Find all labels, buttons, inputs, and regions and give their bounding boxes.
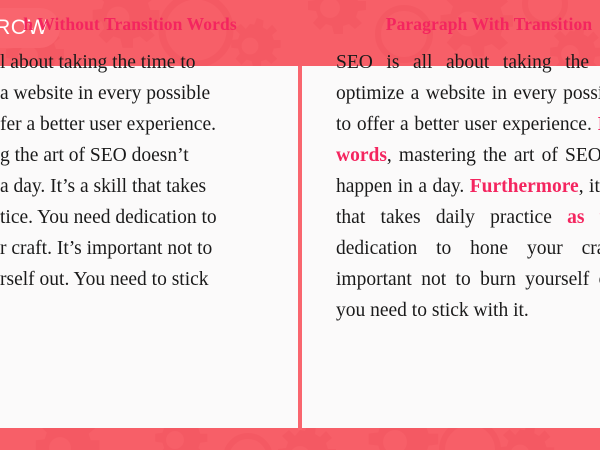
left-paragraph-line: r craft. It’s important not to	[0, 233, 258, 264]
column-without-transitions: h Without Transition Words l about takin…	[0, 0, 298, 362]
paragraph-text: dedication to hone your craft. It’s impo…	[336, 238, 600, 290]
left-paragraph-line: a day. It’s a skill that takes	[0, 171, 258, 202]
bottom-accent-band	[0, 428, 600, 450]
transition-word: Furthermore	[470, 176, 579, 197]
left-paragraph-line: fer a better user experience.	[0, 109, 258, 140]
left-column-heading: h Without Transition Words	[0, 14, 260, 35]
left-column-paragraph: l about taking the time toa website in e…	[0, 47, 258, 295]
slide-canvas: ROW h Without Transition Words l about t…	[0, 0, 600, 450]
right-column-heading: Paragraph With Transition	[336, 14, 600, 35]
left-paragraph-line: l about taking the time to	[0, 47, 258, 78]
right-column-paragraph: SEO is all about taking the time to opti…	[336, 47, 600, 326]
left-paragraph-line: tice. You need dedication to	[0, 202, 258, 233]
left-paragraph-line: a website in every possible	[0, 78, 258, 109]
left-paragraph-line: rself out. You need to stick	[0, 264, 258, 295]
paragraph-text: you need to stick with it.	[336, 300, 529, 321]
paragraph-text: SEO is all about taking the time to opti…	[336, 52, 600, 135]
left-paragraph-line: g the art of SEO doesn’t	[0, 140, 258, 171]
gear-pattern-bottom	[0, 428, 600, 450]
transition-word: as well as	[567, 207, 600, 228]
column-with-transitions: Paragraph With Transition SEO is all abo…	[302, 0, 600, 362]
